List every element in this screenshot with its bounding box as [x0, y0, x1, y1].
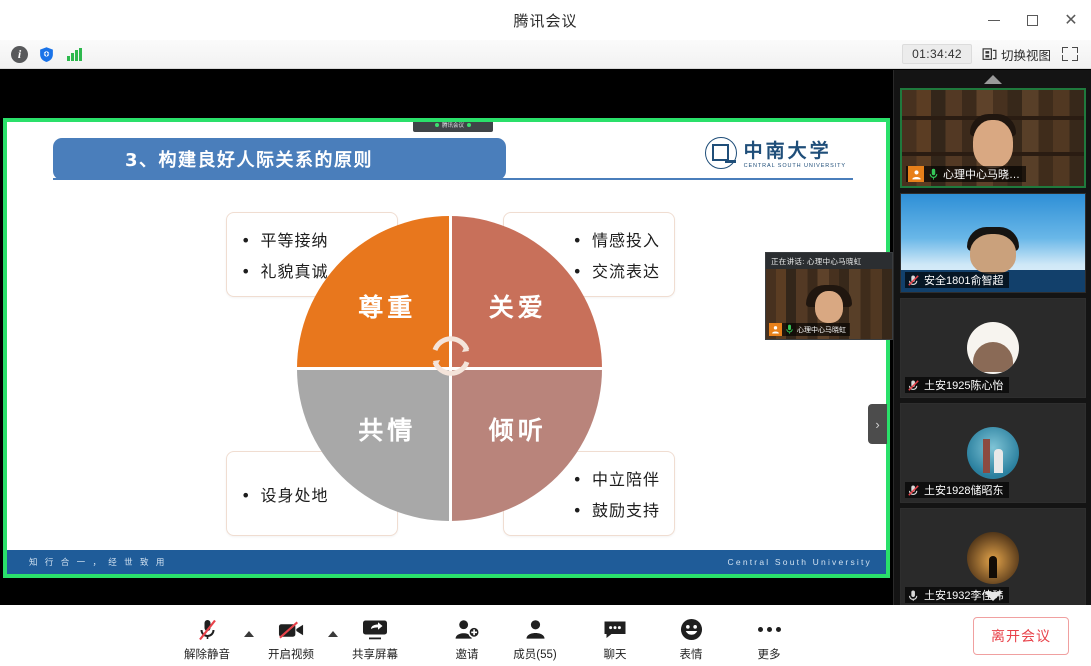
tile-name-chip: 安全1801俞智超 [905, 272, 1009, 288]
tile-face [973, 120, 1013, 168]
meeting-toolbar-left: i [0, 45, 84, 64]
slide-footer-motto: 知 行 合 一 ， 经 世 致 用 [29, 556, 167, 568]
chat-button[interactable]: 聊天 [584, 610, 646, 662]
minimize-button[interactable] [975, 0, 1013, 40]
more-button[interactable]: 更多 [738, 610, 800, 662]
mute-label: 解除静音 [184, 646, 230, 662]
quadrant-label: 尊重 [358, 288, 416, 324]
slide-title-rule [53, 178, 853, 180]
shared-screen-stage: 腾讯会议 3、构建良好人际关系的原则 中南大学 CENTRAL SOUTH UN… [0, 70, 893, 605]
participant-name: 土安1925陈心怡 [924, 377, 1003, 393]
mute-button[interactable]: 解除静音 [176, 610, 238, 662]
shared-content-frame: 腾讯会议 3、构建良好人际关系的原则 中南大学 CENTRAL SOUTH UN… [3, 118, 890, 578]
tile-name-chip: 土安1928储昭东 [905, 482, 1009, 498]
more-label: 更多 [758, 646, 781, 662]
scroll-up-arrow[interactable] [894, 70, 1091, 88]
video-button[interactable]: 开启视频 [260, 610, 322, 662]
tencent-meeting-window: 腾讯会议 ✕ i 01:34:42 [0, 0, 1091, 666]
maximize-icon [1027, 15, 1038, 26]
mic-muted-icon [907, 379, 920, 392]
emoji-label: 表情 [680, 646, 703, 662]
signal-bars [67, 48, 82, 61]
participant-name: 安全1801俞智超 [924, 272, 1003, 288]
video-options-caret[interactable] [322, 610, 344, 654]
chat-bubble-icon [603, 618, 627, 642]
members-label: 成员(55) [513, 646, 556, 662]
smiley-icon [680, 618, 703, 642]
avatar-badge-icon [908, 166, 924, 182]
switch-view-label: 切换视图 [1001, 45, 1051, 64]
pip-speaking-caption: 正在讲话: 心理中心马晓虹 [766, 253, 892, 269]
more-dots-icon [758, 618, 781, 642]
share-indicator-bar: 腾讯会议 [413, 122, 493, 132]
tile-avatar [967, 532, 1019, 584]
quadrant-empathy: 共情 [297, 369, 450, 522]
meeting-toolbar: i 01:34:42 [0, 40, 1091, 69]
mute-options-caret[interactable] [238, 610, 260, 654]
university-name-cn: 中南大学 [744, 136, 846, 163]
avatar-badge-icon [769, 323, 782, 336]
mic-muted-icon [907, 484, 920, 497]
pip-name-chip: 心理中心马晓虹 [769, 323, 850, 336]
slide-title-banner: 3、构建良好人际关系的原则 [53, 138, 506, 180]
participant-tile[interactable]: 安全1801俞智超 [900, 193, 1086, 293]
security-shield-icon[interactable] [37, 45, 56, 64]
minimize-icon [988, 20, 1000, 21]
title-bar: 腾讯会议 ✕ [0, 0, 1091, 40]
bottom-toolbar-items: 解除静音 开启视频 [176, 610, 800, 662]
members-icon [524, 618, 547, 642]
window-title: 腾讯会议 [513, 10, 577, 31]
four-quadrant-diagram: 平等接纳 礼貌真诚 情感投入 交流表达 设身处地 中立陪伴 鼓励支持 [7, 202, 886, 542]
bottom-toolbar: 解除静音 开启视频 [0, 605, 1091, 666]
invite-label: 邀请 [456, 646, 479, 662]
quadrant-label: 共情 [358, 411, 416, 447]
university-seal-icon [705, 137, 737, 169]
chevron-up-icon [244, 631, 254, 637]
participant-tile[interactable]: 土安1928储昭东 [900, 403, 1086, 503]
tile-name-chip: 心理中心马晓… [906, 166, 1026, 182]
share-screen-label: 共享屏幕 [352, 646, 398, 662]
slide-title-text: 3、构建良好人际关系的原则 [53, 146, 373, 172]
pip-video: 心理中心马晓虹 [766, 269, 892, 339]
presentation-slide: 腾讯会议 3、构建良好人际关系的原则 中南大学 CENTRAL SOUTH UN… [7, 122, 886, 574]
collapse-panel-handle[interactable]: › [868, 404, 887, 444]
slide-footer-university: Central South University [728, 557, 872, 567]
chevron-up-icon [328, 631, 338, 637]
info-icon[interactable]: i [11, 46, 28, 63]
recycle-arrows-icon [425, 330, 477, 382]
camera-off-icon [278, 618, 305, 642]
share-screen-icon [362, 618, 388, 642]
chat-label: 聊天 [604, 646, 627, 662]
share-indicator-label: 腾讯会议 [442, 122, 464, 129]
tile-avatar [967, 427, 1019, 479]
window-controls: ✕ [975, 0, 1091, 40]
slide-footer: 知 行 合 一 ， 经 世 致 用 Central South Universi… [7, 550, 886, 574]
members-button[interactable]: 成员(55) [498, 610, 572, 662]
scroll-down-arrow[interactable] [894, 587, 1091, 605]
fullscreen-icon[interactable] [1061, 45, 1079, 63]
mic-muted-icon [907, 274, 920, 287]
tile-name-chip: 土安1925陈心怡 [905, 377, 1009, 393]
quadrant-label: 倾听 [489, 411, 547, 447]
invite-person-icon [455, 618, 480, 642]
meeting-timer: 01:34:42 [902, 44, 972, 64]
switch-view-icon [982, 47, 997, 62]
quadrant-listen: 倾听 [450, 369, 603, 522]
quadrant-label: 关爱 [489, 288, 547, 324]
pip-name-label: 心理中心马晓虹 [797, 325, 846, 335]
network-signal-icon[interactable] [65, 45, 84, 64]
switch-view-button[interactable]: 切换视图 [982, 45, 1051, 64]
leave-meeting-button[interactable]: 离开会议 [973, 617, 1069, 655]
participant-rail: 心理中心马晓… 安全1801俞智超 [893, 70, 1091, 605]
share-screen-button[interactable]: 共享屏幕 [344, 610, 406, 662]
meeting-toolbar-right: 01:34:42 切换视图 [902, 44, 1091, 64]
tile-face [970, 234, 1016, 274]
university-logo: 中南大学 CENTRAL SOUTH UNIVERSITY [705, 136, 846, 169]
university-name-en: CENTRAL SOUTH UNIVERSITY [744, 163, 846, 169]
invite-button[interactable]: 邀请 [436, 610, 498, 662]
participant-name: 土安1928储昭东 [924, 482, 1003, 498]
participant-name: 心理中心马晓… [943, 166, 1020, 182]
participant-tile[interactable]: 土安1925陈心怡 [900, 298, 1086, 398]
close-icon: ✕ [1064, 10, 1077, 30]
participant-tile[interactable]: 心理中心马晓… [900, 88, 1086, 188]
close-button[interactable]: ✕ [1051, 0, 1091, 40]
pip-face [815, 291, 843, 323]
microphone-muted-icon [197, 618, 218, 642]
emoji-button[interactable]: 表情 [660, 610, 722, 662]
speaker-pip[interactable]: 正在讲话: 心理中心马晓虹 心理中心马晓虹 [765, 252, 893, 340]
mic-on-icon [785, 324, 794, 335]
mic-on-icon [928, 168, 939, 181]
participant-tiles: 心理中心马晓… 安全1801俞智超 [894, 88, 1091, 608]
maximize-button[interactable] [1013, 0, 1051, 40]
tile-avatar [967, 322, 1019, 374]
video-label: 开启视频 [268, 646, 314, 662]
